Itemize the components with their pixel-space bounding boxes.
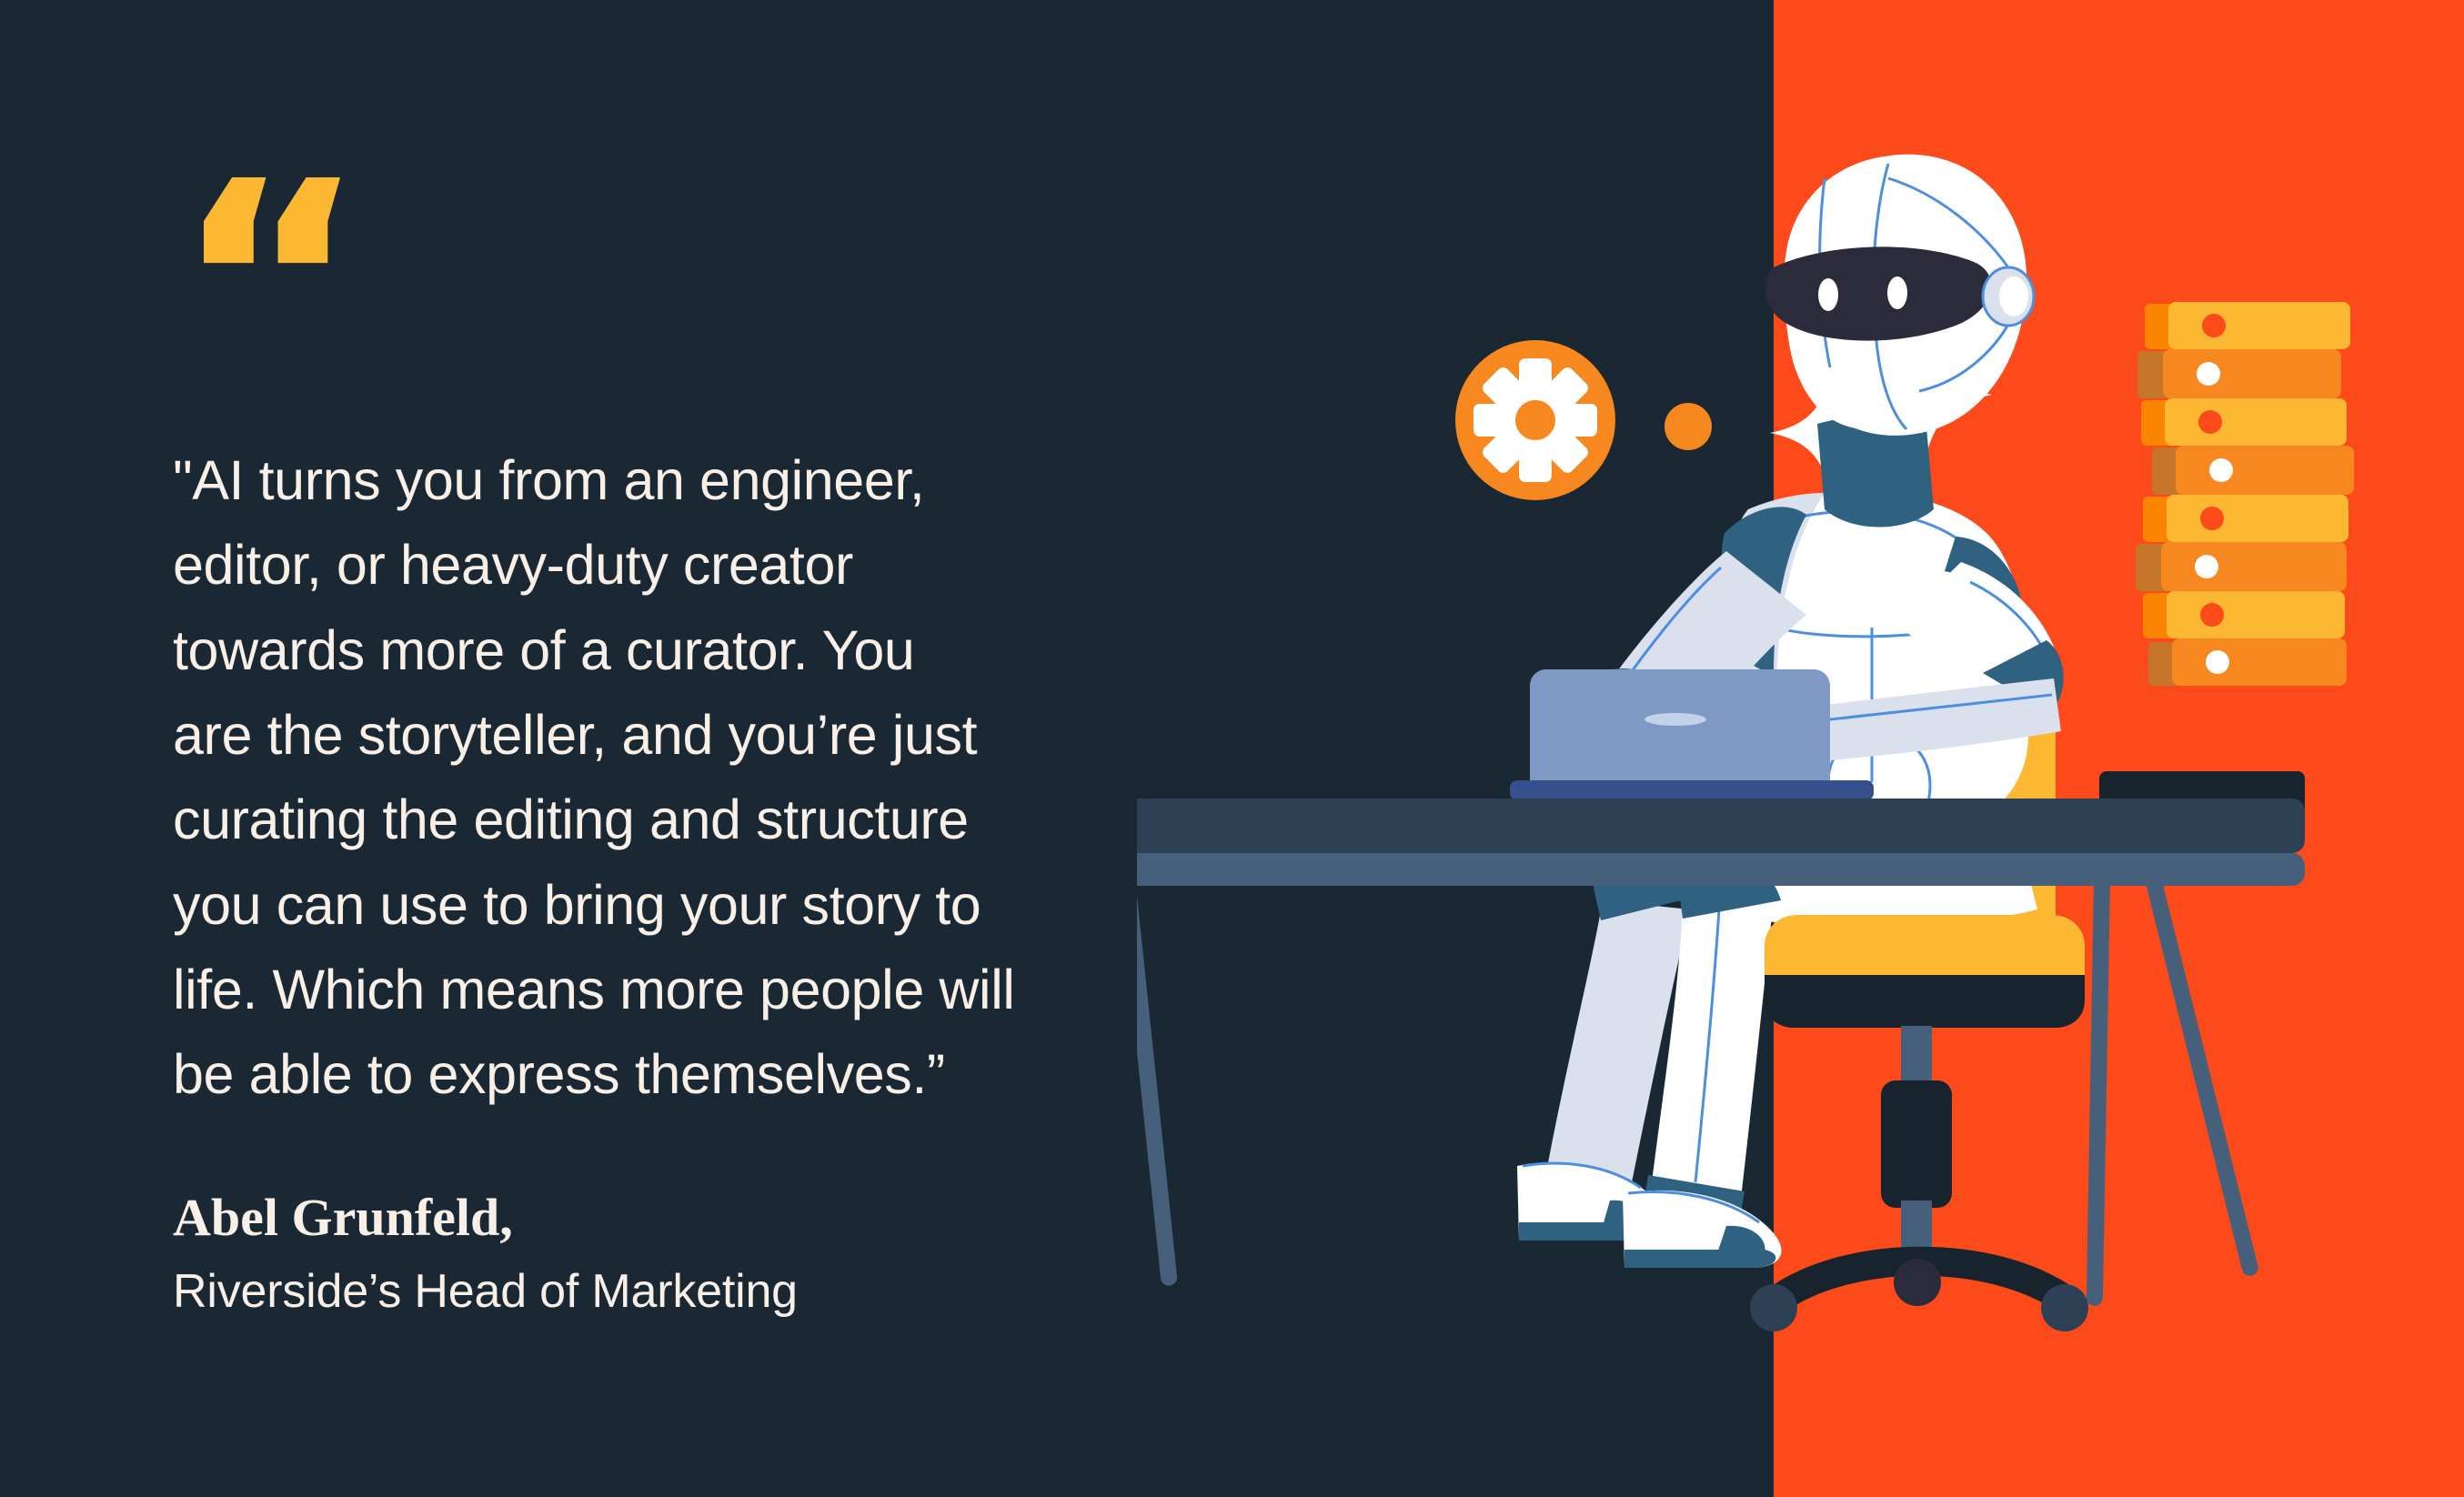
office-chair	[1750, 915, 2088, 1331]
desk-leg-left	[1137, 878, 1178, 1287]
desk-leg-right	[2087, 877, 2260, 1306]
book-item	[2148, 638, 2347, 686]
book-item	[2152, 446, 2354, 495]
book-item	[2136, 542, 2347, 591]
quote-text: "AI turns you from an engineer, editor, …	[173, 438, 1164, 1118]
book-item	[2141, 398, 2347, 446]
robot-shoe-front	[1623, 1191, 1781, 1268]
small-bubble-dot	[1664, 403, 1712, 450]
quote-card: “ "AI turns you from an engineer, editor…	[0, 0, 2464, 1497]
robot-at-desk-illustration	[1137, 0, 2464, 1497]
open-quote-icon: “	[173, 177, 1164, 337]
gear-bubble-icon	[1455, 340, 1615, 500]
book-item	[2137, 349, 2341, 398]
book-item	[2145, 302, 2350, 349]
author-role: Riverside’s Head of Marketing	[173, 1264, 1164, 1319]
book-stack	[2136, 302, 2354, 686]
quote-block: “ "AI turns you from an engineer, editor…	[173, 177, 1164, 1319]
author-name: Abel Grunfeld,	[173, 1187, 1164, 1248]
robot-ear-module	[1983, 267, 2034, 326]
laptop	[1510, 669, 1874, 800]
book-item	[2143, 495, 2348, 542]
book-item	[2143, 591, 2345, 638]
